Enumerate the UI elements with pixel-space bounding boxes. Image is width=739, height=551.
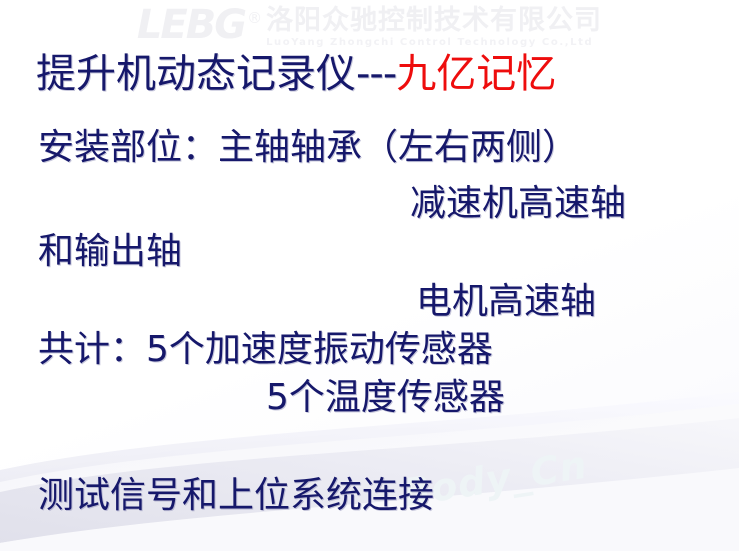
motor-high-speed-shaft-line: 电机高速轴 [416,280,596,324]
title-main-text: 提升机动态记录仪 [36,51,356,97]
total-vibration-sensors-line: 共计：5个加速度振动传感器 [38,328,493,372]
slide-text-content: 提升机动态记录仪---九亿记忆 安装部位：主轴轴承（左右两侧） 减速机高速轴 和… [0,0,739,551]
title-accent-text: 九亿记忆 [396,51,556,97]
presentation-slide: LEBG ® 洛阳众驰控制技术有限公司 LuoYang Zhongchi Con… [0,0,739,551]
title-separator: --- [356,51,396,97]
install-location-line: 安装部位：主轴轴承（左右两侧） [38,126,578,170]
output-shaft-line: 和输出轴 [38,230,182,274]
connection-line: 测试信号和上位系统连接 [38,474,434,518]
total-temperature-sensors-line: 5个温度传感器 [266,376,505,420]
slide-title: 提升机动态记录仪---九亿记忆 [36,50,556,98]
gearbox-high-speed-shaft-line: 减速机高速轴 [410,182,626,226]
